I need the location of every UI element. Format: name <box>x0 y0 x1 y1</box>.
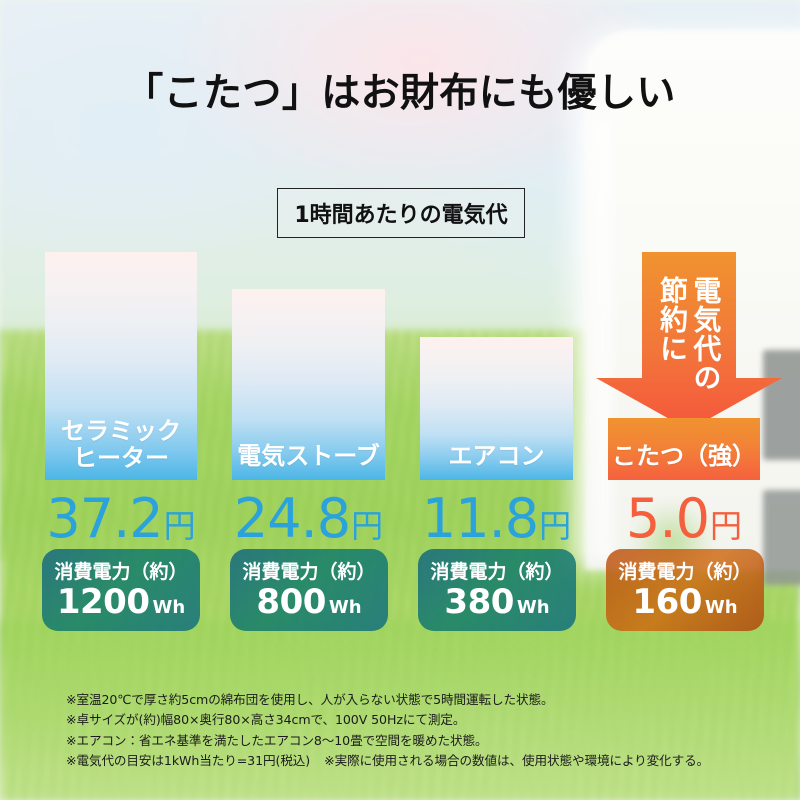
bar-label-line-2: ヒーター <box>73 444 169 472</box>
power-badge-value: 1200 <box>57 582 150 622</box>
power-badge-value: 800 <box>256 582 325 622</box>
footnote-2: ※卓サイズが(約)幅80×奥行80×高さ34cmで、100V 50Hzにて測定。 <box>66 710 766 730</box>
bar-rect: セラミック ヒーター <box>45 252 197 480</box>
footnote-4-row: ※電気代の目安は1kWh当たり=31円(税込)※実際に使用される場合の数値は、使… <box>66 751 766 771</box>
price-unit: 円 <box>539 507 571 545</box>
price-unit: 円 <box>351 507 383 545</box>
bar-column-ceramic-heater: セラミック ヒーター <box>45 252 197 480</box>
price-electric-stove: 24.8円 <box>232 492 385 546</box>
bar-label-line-1: セラミック <box>61 417 181 445</box>
bar-label: こたつ（強） <box>608 443 760 480</box>
bar-column-air-conditioner: エアコン <box>420 337 573 480</box>
bar-label: エアコン <box>420 443 573 480</box>
footnote-3: ※エアコン：省エネ基準を満たしたエアコン8〜10畳で空間を暖めた状態。 <box>66 731 766 751</box>
bar-chart: セラミック ヒーター 37.2円 消費電力（約） 1200Wh 電気ストーブ 2… <box>0 0 800 800</box>
price-air-conditioner: 11.8円 <box>420 492 573 546</box>
bar-column-kotatsu: こたつ（強） <box>608 418 760 480</box>
power-badge-kotatsu: 消費電力（約） 160Wh <box>606 549 764 631</box>
power-badge-value: 380 <box>444 582 513 622</box>
power-badge-value-row: 380Wh <box>444 585 549 619</box>
price-value: 24.8 <box>234 487 350 550</box>
power-badge-ceramic-heater: 消費電力（約） 1200Wh <box>42 549 200 631</box>
power-badge-title: 消費電力（約） <box>242 563 375 583</box>
power-badge-value-row: 1200Wh <box>57 585 185 619</box>
price-value: 37.2 <box>46 487 162 550</box>
power-badge-unit: Wh <box>517 597 550 618</box>
bar-column-electric-stove: 電気ストーブ <box>232 289 385 480</box>
power-badge-unit: Wh <box>152 597 185 618</box>
power-badge-electric-stove: 消費電力（約） 800Wh <box>230 549 388 631</box>
footnote-4: ※電気代の目安は1kWh当たり=31円(税込) <box>66 753 310 768</box>
price-unit: 円 <box>164 507 196 545</box>
power-badge-value: 160 <box>632 582 701 622</box>
bar-rect: こたつ（強） <box>608 418 760 480</box>
bar-label-line-1: エアコン <box>449 442 545 470</box>
power-badge-air-conditioner: 消費電力（約） 380Wh <box>418 549 576 631</box>
power-badge-title: 消費電力（約） <box>618 563 751 583</box>
price-value: 11.8 <box>422 487 538 550</box>
bar-label: 電気ストーブ <box>232 443 385 480</box>
power-badge-title: 消費電力（約） <box>430 563 563 583</box>
price-unit: 円 <box>710 507 742 545</box>
bar-label-line-1: こたつ（強） <box>612 442 756 470</box>
power-badge-unit: Wh <box>705 597 738 618</box>
price-kotatsu: 5.0円 <box>608 492 760 546</box>
price-value: 5.0 <box>626 487 709 550</box>
power-badge-title: 消費電力（約） <box>54 563 187 583</box>
power-badge-value-row: 800Wh <box>256 585 361 619</box>
price-ceramic-heater: 37.2円 <box>45 492 197 546</box>
bar-rect: 電気ストーブ <box>232 289 385 480</box>
footnotes: ※室温20℃で厚さ約5cmの綿布団を使用し、人が入らない状態で5時間運転した状態… <box>66 690 766 772</box>
bar-label-line-1: 電気ストーブ <box>237 442 380 470</box>
footnote-1: ※室温20℃で厚さ約5cmの綿布団を使用し、人が入らない状態で5時間運転した状態… <box>66 690 766 710</box>
bar-rect: エアコン <box>420 337 573 480</box>
power-badge-unit: Wh <box>329 597 362 618</box>
infographic-canvas: 「こたつ」はお財布にも優しい 1時間あたりの電気代 電気代の 節約に <box>0 0 800 800</box>
power-badge-value-row: 160Wh <box>632 585 737 619</box>
footnote-5: ※実際に使用される場合の数値は、使用状態や環境により変化する。 <box>324 753 709 768</box>
bar-label: セラミック ヒーター <box>45 418 197 480</box>
